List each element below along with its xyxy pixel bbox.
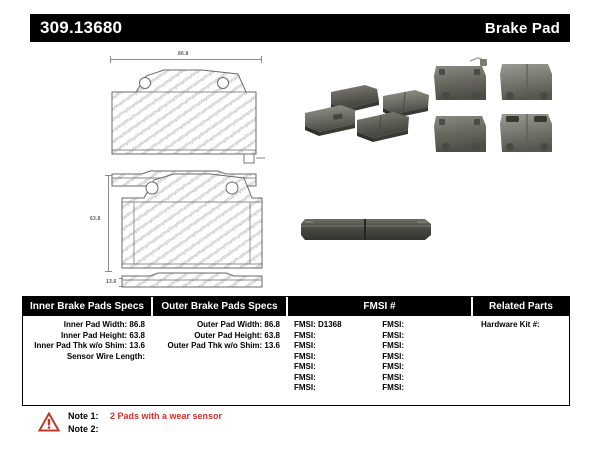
note-1-label: Note 1: <box>68 410 106 423</box>
width-dimension-text: 86.8 <box>178 51 189 57</box>
fmsi-row: FMSI: D1368 <box>294 320 376 331</box>
note-1-value: 2 Pads with a wear sensor <box>106 410 222 423</box>
outer-spec-row: Outer Pad Width: 86.8 <box>153 320 280 331</box>
inner-spec-row: Inner Pad Height: 63.8 <box>23 331 145 342</box>
height-dimension-line <box>108 175 109 272</box>
front-view-pad-outline: StopTech <box>118 172 266 278</box>
fmsi-row: FMSI: <box>294 352 376 363</box>
fmsi-row: FMSI: <box>382 341 473 352</box>
inner-spec-row: Inner Pad Width: 86.8 <box>23 320 145 331</box>
part-number: 309.13680 <box>40 18 122 38</box>
front-view-backing-plate <box>118 272 266 290</box>
diagram-area: 86.8 StopTech 63. <box>30 48 570 288</box>
outer-specs-column: Outer Pad Width: 86.8 Outer Pad Height: … <box>153 316 288 394</box>
outer-spec-row: Outer Pad Height: 63.8 <box>153 331 280 342</box>
notes-area: Note 1: 2 Pads with a wear sensor Note 2… <box>22 410 570 450</box>
fmsi-row: FMSI: <box>382 352 473 363</box>
table-body: Inner Pad Width: 86.8 Inner Pad Height: … <box>23 316 569 394</box>
inner-specs-column: Inner Pad Width: 86.8 Inner Pad Height: … <box>23 316 153 394</box>
top-view-drawing: 86.8 StopTech <box>106 48 266 168</box>
column-header-inner-specs: Inner Brake Pads Specs <box>23 297 153 316</box>
width-dim-tick-right <box>261 56 262 63</box>
header-bar: 309.13680 Brake Pad <box>30 14 570 42</box>
outer-spec-row: Outer Pad Thk w/o Shim: 13.6 <box>153 341 280 352</box>
height-dimension-text: 63.8 <box>90 216 101 222</box>
edge-view-pad-photo <box>295 210 435 250</box>
note-block: Note 1: 2 Pads with a wear sensor Note 2… <box>68 410 222 436</box>
related-parts-column: Hardware Kit #: <box>473 316 569 394</box>
fmsi-row: FMSI: <box>294 373 376 384</box>
flat-pads-svg <box>430 54 562 166</box>
fmsi-row: FMSI: <box>294 383 376 394</box>
fmsi-row: FMSI: <box>382 331 473 342</box>
front-view-drawing: 63.8 13.6 StopTech <box>82 166 272 288</box>
fmsi-row: FMSI: <box>294 331 376 342</box>
inner-spec-row: Sensor Wire Length: <box>23 352 145 363</box>
spec-table: Inner Brake Pads Specs Outer Brake Pads … <box>22 296 570 406</box>
edge-view-svg <box>295 210 435 250</box>
fmsi-row: FMSI: <box>294 362 376 373</box>
angled-pad-photo <box>295 56 435 166</box>
note-2-row: Note 2: <box>68 423 222 436</box>
warning-triangle-icon <box>38 412 60 432</box>
fmsi-subcolumn-a: FMSI: D1368 FMSI: FMSI: FMSI: FMSI: FMSI… <box>288 320 376 394</box>
product-type-label: Brake Pad <box>485 20 560 37</box>
column-header-fmsi: FMSI # <box>288 297 473 316</box>
note-1-row: Note 1: 2 Pads with a wear sensor <box>68 410 222 423</box>
thickness-dimension-text: 13.6 <box>106 279 117 285</box>
column-header-related-parts: Related Parts <box>473 297 569 316</box>
fmsi-subcolumn-b: FMSI: FMSI: FMSI: FMSI: FMSI: FMSI: FMSI… <box>376 320 473 394</box>
top-view-pad-outline: StopTech <box>106 64 266 174</box>
height-dim-tick-top <box>105 175 112 176</box>
width-dim-tick-left <box>110 56 111 63</box>
fmsi-row: FMSI: <box>382 383 473 394</box>
fmsi-column: FMSI: D1368 FMSI: FMSI: FMSI: FMSI: FMSI… <box>288 316 473 394</box>
fmsi-row: FMSI: <box>294 341 376 352</box>
angled-pads-svg <box>295 56 435 166</box>
width-dimension-line <box>110 59 262 60</box>
fmsi-row: FMSI: <box>382 320 473 331</box>
fmsi-row: FMSI: <box>382 362 473 373</box>
note-2-label: Note 2: <box>68 423 106 436</box>
flat-pad-photo <box>430 54 562 166</box>
inner-spec-row: Inner Pad Thk w/o Shim: 13.6 <box>23 341 145 352</box>
table-header-row: Inner Brake Pads Specs Outer Brake Pads … <box>23 297 569 316</box>
fmsi-row: FMSI: <box>382 373 473 384</box>
height-dim-tick-bottom <box>105 271 112 272</box>
related-part-row: Hardware Kit #: <box>481 320 569 331</box>
column-header-outer-specs: Outer Brake Pads Specs <box>153 297 288 316</box>
